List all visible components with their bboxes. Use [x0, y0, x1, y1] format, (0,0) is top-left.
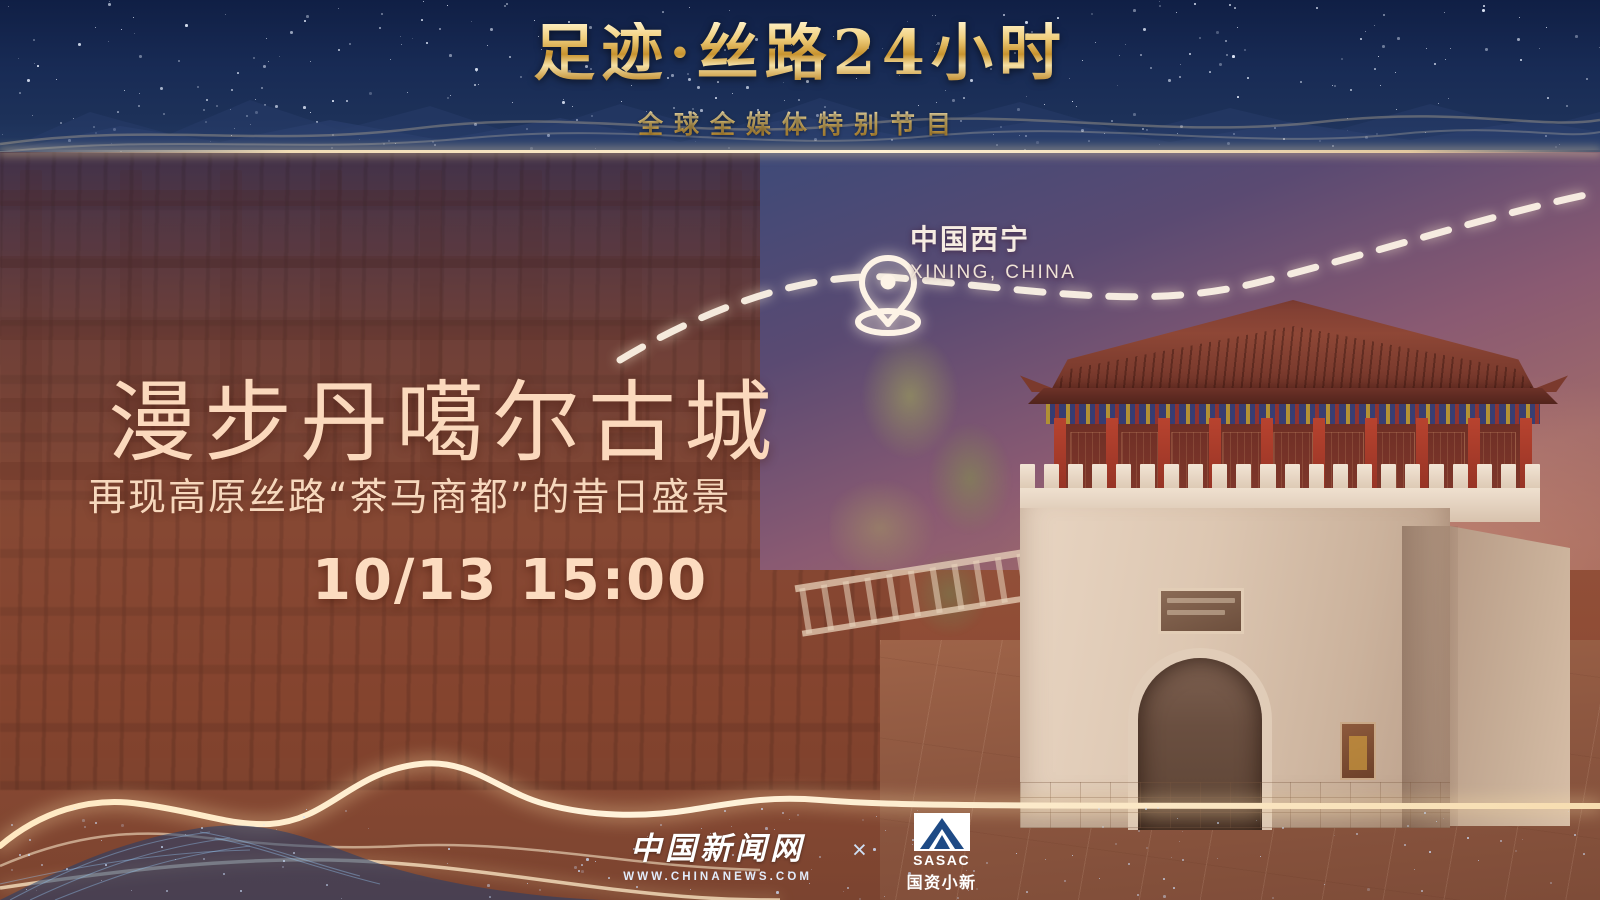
chinanews-url: WWW.CHINANEWS.COM — [623, 871, 812, 883]
gate-name-plaque — [1158, 588, 1244, 634]
sasac-triangle-icon — [914, 813, 970, 851]
wall-battlements — [1020, 464, 1540, 490]
broadcast-datetime: 10/13 15:00 — [312, 548, 708, 613]
promo-poster: 中国西宁 XINING, CHINA 足迹·丝路24小时 全球全媒体特别节目 漫… — [0, 0, 1600, 900]
program-banner: 足迹·丝路24小时 全球全媒体特别节目 — [0, 0, 1600, 152]
chinanews-logo[interactable]: 中国新闻网 WWW.CHINANEWS.COM — [623, 823, 812, 883]
chinanews-name: 中国新闻网 — [623, 823, 812, 868]
banner-divider-glow — [0, 150, 1600, 153]
page-subtitle: 再现高原丝路“茶马商都”的昔日盛景 — [88, 466, 731, 521]
location-label: 中国西宁 XINING, CHINA — [910, 218, 1076, 284]
location-name-en: XINING, CHINA — [910, 262, 1076, 284]
footer-bar: 中国新闻网 WWW.CHINANEWS.COM × SASAC 国资小新 — [0, 806, 1600, 900]
program-title: 足迹·丝路24小时 — [0, 22, 1600, 84]
program-subtitle: 全球全媒体特别节目 — [0, 105, 1600, 141]
sasac-logo[interactable]: SASAC 国资小新 — [907, 813, 977, 893]
location-name-cn: 中国西宁 — [910, 218, 1076, 258]
sasac-name-cn: 国资小新 — [907, 869, 977, 893]
logo-separator: × — [852, 836, 867, 871]
sasac-name-en: SASAC — [907, 852, 977, 868]
page-title: 漫步丹噶尔古城 — [108, 352, 780, 479]
